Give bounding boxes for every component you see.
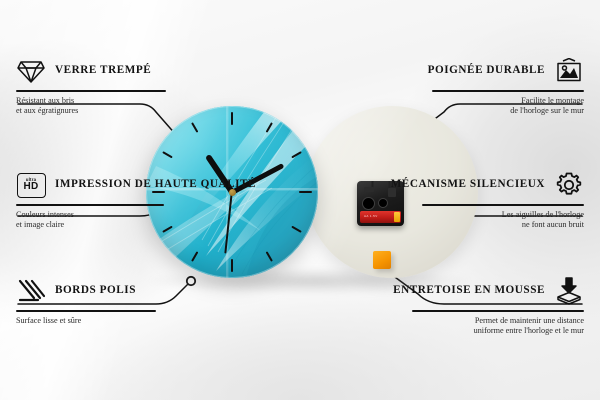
foam-spacer-icon [554,276,584,306]
gear-icon [554,170,584,200]
wall-hanger-icon [554,56,584,86]
callout-rule [16,204,164,206]
mechanism-dial [378,198,388,208]
callout-bords-polis: BORDS POLIS Surface lisse et sûre [16,276,156,326]
callout-rule [16,90,166,92]
diamond-icon [16,56,46,86]
callout-title: BORDS POLIS [55,284,136,297]
polished-edges-icon [16,276,46,306]
infographic-canvas: AA 1.5V [0,0,600,400]
battery: AA 1.5V [360,211,401,223]
callout-description: Facilite le montage de l'horloge sur le … [432,96,584,117]
clock-face [146,106,318,278]
callout-title: ENTRETOISE EN MOUSSE [393,284,545,297]
callout-rule [412,310,584,312]
battery-label: AA 1.5V [364,214,378,218]
glass-edge [146,106,318,278]
callout-description: Résistant aux bris et aux égratignures [16,96,166,117]
callout-poignee-durable: POIGNÉE DURABLE Facilite le montage de l… [432,56,584,116]
callout-title: MÉCANISME SILENCIEUX [391,178,545,191]
callout-mecanisme-silencieux: MÉCANISME SILENCIEUX Les aiguilles de l'… [422,170,584,230]
callout-description: Couleurs intenses et image claire [16,210,164,231]
callout-rule [422,204,584,206]
callout-description: Surface lisse et sûre [16,316,156,326]
callout-title: VERRE TREMPÉ [55,64,151,77]
callout-entretoise-en-mousse: ENTRETOISE EN MOUSSE Permet de maintenir… [412,276,584,336]
mechanism-dial [362,197,375,210]
callout-title: IMPRESSION DE HAUTE QUALITÉ [55,178,256,191]
callout-description: Les aiguilles de l'horloge ne font aucun… [422,210,584,231]
callout-verre-trempe: VERRE TREMPÉ Résistant aux bris et aux é… [16,56,166,116]
callout-impression-haute-qualite: ultra HD IMPRESSION DE HAUTE QUALITÉ Cou… [16,170,164,230]
callout-description: Permet de maintenir une distance uniform… [412,316,584,337]
ultra-hd-icon-main-label: HD [23,182,38,192]
callout-title: POIGNÉE DURABLE [428,64,545,77]
callout-rule [16,310,156,312]
ultra-hd-icon: ultra HD [16,170,46,200]
callout-rule [432,90,584,92]
foam-spacer [373,251,391,269]
mechanism-detail [364,187,374,192]
